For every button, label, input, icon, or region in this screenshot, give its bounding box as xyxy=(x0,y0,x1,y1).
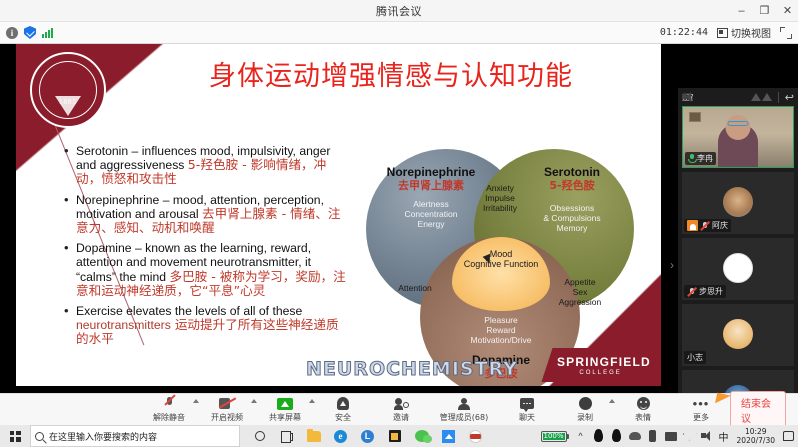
participant-name: 小志 xyxy=(687,352,703,363)
manage-members-label: 管理成员(68) xyxy=(440,412,488,423)
microsoft-store-button[interactable] xyxy=(381,425,408,447)
badge-line-2: COLLEGE xyxy=(579,370,621,376)
file-explorer-button[interactable] xyxy=(300,425,327,447)
signal-icon[interactable] xyxy=(42,27,53,38)
mic-off-icon xyxy=(687,287,697,297)
app-title: 腾讯会议 xyxy=(376,3,422,19)
mic-muted-icon xyxy=(164,396,175,411)
cnki-button[interactable] xyxy=(462,425,489,447)
restore-button[interactable]: ❐ xyxy=(758,5,771,18)
search-placeholder: 在这里输入你要搜索的内容 xyxy=(49,430,157,443)
app-root: 腾讯会议 – ❐ ✕ i 01:22:44 切换视图 xyxy=(0,0,798,447)
participant-name-bar: 小志 xyxy=(684,351,706,364)
battery-percent: 100% xyxy=(543,433,565,440)
volume-icon[interactable] xyxy=(701,430,713,442)
cloud-icon[interactable] xyxy=(629,430,641,442)
windows-logo-icon xyxy=(10,431,21,442)
bullet-text-en-highlight: neurotransmitters xyxy=(76,318,171,332)
switch-view-button[interactable]: 切换视图 xyxy=(717,25,771,40)
neurochemistry-watermark: NEUROCHEMISTRY xyxy=(306,358,518,380)
shield-icon[interactable] xyxy=(24,26,36,39)
person-glasses xyxy=(728,121,749,126)
top-toolbar-right: 01:22:44 切换视图 xyxy=(660,25,792,40)
participant-tiles: 李冉 阿庆 步思升 xyxy=(678,106,798,418)
top-toolbar-left: i xyxy=(6,26,53,39)
background-picture xyxy=(689,112,701,122)
venn-label-norepinephrine-title: Norepinephrine xyxy=(370,167,492,177)
windows-taskbar: 在这里输入你要搜索的内容 e L 100% ^ 中 xyxy=(0,425,798,447)
springfield-college-badge: SPRINGFIELD COLLEGE xyxy=(541,348,661,382)
back-arrow-icon[interactable]: ↩ xyxy=(785,91,794,104)
meeting-control-items: 解除静音 开启视频 共享屏幕 安全 邀请 xyxy=(0,396,730,423)
participant-tile-0[interactable]: 李冉 xyxy=(682,106,794,168)
invite-icon xyxy=(394,396,409,411)
venn-label-ne-da-overlap: Attention xyxy=(382,283,448,293)
more-label: 更多 xyxy=(693,412,709,423)
share-screen-icon xyxy=(277,396,293,411)
record-label: 录制 xyxy=(577,412,593,423)
more-icon: ••• xyxy=(693,396,710,411)
bullet-dot: • xyxy=(64,241,76,298)
members-icon xyxy=(458,396,470,411)
search-icon xyxy=(35,432,44,441)
bullet-text: Norepinephrine – mood, attention, percep… xyxy=(76,193,349,236)
share-screen-button[interactable]: 共享屏幕 xyxy=(256,396,314,423)
clock[interactable]: 10:29 2020/7/30 xyxy=(735,427,777,445)
info-icon[interactable]: i xyxy=(6,27,18,39)
meeting-stage: 1885 身体运动增强情感与认知功能 • Serotonin – influen… xyxy=(0,44,798,393)
qq-icon-2[interactable] xyxy=(611,430,623,442)
edge-button[interactable]: e xyxy=(327,425,354,447)
tencent-meeting-icon xyxy=(442,430,455,443)
invite-button[interactable]: 邀请 xyxy=(372,396,430,423)
invite-label: 邀请 xyxy=(393,412,409,423)
switch-view-label: 切换视图 xyxy=(731,25,771,40)
bullet-item-1: • Serotonin – influences mood, impulsivi… xyxy=(64,144,349,187)
mic-off-icon xyxy=(700,221,710,231)
end-meeting-button[interactable]: 结束会议 xyxy=(730,391,786,429)
minimize-button[interactable]: – xyxy=(735,5,748,18)
participant-name: 步思升 xyxy=(699,286,723,297)
start-video-label: 开启视频 xyxy=(211,412,243,423)
task-view-icon xyxy=(281,431,293,441)
springfield-seal-logo: 1885 xyxy=(30,52,106,128)
wechat-button[interactable] xyxy=(408,425,435,447)
usb-icon[interactable] xyxy=(647,430,659,442)
avatar xyxy=(723,319,753,349)
active-speaker-label: 正在讲话: 李冉; xyxy=(682,92,693,102)
edge-icon: e xyxy=(334,430,347,443)
shared-slide[interactable]: 1885 身体运动增强情感与认知功能 • Serotonin – influen… xyxy=(16,44,661,386)
window-title-bar: 腾讯会议 – ❐ ✕ xyxy=(0,0,798,22)
person-head xyxy=(726,115,751,140)
collapse-panel-chevron-icon[interactable]: › xyxy=(666,252,678,278)
window-controls: – ❐ ✕ xyxy=(735,0,794,22)
chat-icon xyxy=(520,396,534,411)
system-tray: 100% ^ 中 10:29 2020/7/30 xyxy=(541,427,798,445)
bullet-text: Serotonin – influences mood, impulsivity… xyxy=(76,144,349,187)
participant-tile-2[interactable]: 步思升 xyxy=(682,238,794,300)
record-button[interactable]: 录制 xyxy=(556,396,614,423)
venn-label-serotonin-title: Serotonin xyxy=(516,167,628,177)
venn-label-ne-se-overlap: Anxiety Impulse Irritability xyxy=(462,183,538,213)
bullet-item-3: • Dopamine – known as the learning, rewa… xyxy=(64,241,349,298)
fullscreen-icon[interactable] xyxy=(780,27,792,39)
meeting-timer: 01:22:44 xyxy=(660,27,708,38)
record-icon xyxy=(579,396,592,411)
bullet-text: Dopamine – known as the learning, reward… xyxy=(76,241,349,298)
bullet-text-en: Exercise elevates the levels of all of t… xyxy=(76,304,302,318)
unmute-label: 解除静音 xyxy=(153,412,185,423)
clock-date: 2020/7/30 xyxy=(737,436,775,445)
clock-time: 10:29 xyxy=(737,427,775,436)
start-button[interactable] xyxy=(0,425,30,447)
unmute-button[interactable]: 解除静音 xyxy=(140,396,198,423)
security-label: 安全 xyxy=(335,412,351,423)
participant-name-bar: 阿庆 xyxy=(684,219,731,232)
emoji-label: 表情 xyxy=(635,412,651,423)
close-button[interactable]: ✕ xyxy=(781,5,794,18)
camera-off-icon xyxy=(219,396,235,411)
bullet-dot: • xyxy=(64,304,76,347)
cortana-button[interactable] xyxy=(246,425,273,447)
emoji-icon xyxy=(637,396,650,411)
bullet-item-4: • Exercise elevates the levels of all of… xyxy=(64,304,349,347)
file-explorer-icon xyxy=(307,431,321,442)
badge-line-1: SPRINGFIELD xyxy=(557,355,651,369)
task-view-button[interactable] xyxy=(273,425,300,447)
cnki-icon xyxy=(469,430,482,443)
lsp-icon: L xyxy=(361,430,374,443)
meeting-top-toolbar: i 01:22:44 切换视图 xyxy=(0,22,798,44)
venn-label-se-da-overlap: Appetite Sex Aggression xyxy=(544,277,616,307)
avatar xyxy=(723,187,753,217)
bullet-dot: • xyxy=(64,193,76,236)
network-icon[interactable] xyxy=(665,430,677,442)
panel-header: 正在讲话: 李冉; ↩ xyxy=(678,88,798,106)
switch-view-icon xyxy=(717,28,728,38)
chat-button[interactable]: 聊天 xyxy=(498,396,556,423)
chat-label: 聊天 xyxy=(519,412,535,423)
battery-status[interactable]: 100% xyxy=(541,431,569,442)
avatar xyxy=(723,253,753,283)
bullet-dot: • xyxy=(64,144,76,187)
ime-indicator[interactable]: 中 xyxy=(719,429,729,444)
meeting-control-toolbar: 解除静音 开启视频 共享屏幕 安全 邀请 xyxy=(0,393,798,425)
bullet-item-2: • Norepinephrine – mood, attention, perc… xyxy=(64,193,349,236)
venn-label-dopamine-items: Pleasure Reward Motivation/Drive xyxy=(442,315,560,345)
security-icon xyxy=(337,396,349,411)
notification-icon[interactable] xyxy=(783,431,794,441)
lsp-button[interactable]: L xyxy=(354,425,381,447)
qq-icon[interactable] xyxy=(593,430,605,442)
panel-divider xyxy=(778,92,779,103)
participant-name-bar: 步思升 xyxy=(684,285,726,298)
participant-name-bar: 李冉 xyxy=(685,152,716,165)
participant-name: 李冉 xyxy=(697,153,713,164)
slide-title: 身体运动增强情感与认知功能 xyxy=(166,54,616,93)
participant-tile-1[interactable]: 阿庆 xyxy=(682,172,794,234)
mic-on-icon xyxy=(688,154,695,163)
participant-tile-3[interactable]: 小志 xyxy=(682,304,794,366)
participant-name: 阿庆 xyxy=(712,220,728,231)
slide-bullet-list: • Serotonin – influences mood, impulsivi… xyxy=(64,144,349,353)
search-input[interactable]: 在这里输入你要搜索的内容 xyxy=(30,425,240,447)
tray-expand-icon[interactable]: ^ xyxy=(575,430,587,442)
host-badge-icon xyxy=(687,220,698,231)
participant-panel: 正在讲话: 李冉; ↩ 李冉 xyxy=(678,88,798,437)
wifi-icon[interactable] xyxy=(683,430,695,442)
bullet-text: Exercise elevates the levels of all of t… xyxy=(76,304,349,347)
emoji-button[interactable]: 表情 xyxy=(614,396,672,423)
security-button[interactable]: 安全 xyxy=(314,396,372,423)
manage-members-button[interactable]: 管理成员(68) xyxy=(430,396,498,423)
start-video-button[interactable]: 开启视频 xyxy=(198,396,256,423)
share-screen-label: 共享屏幕 xyxy=(269,412,301,423)
store-icon xyxy=(389,430,401,442)
taskbar-apps: e L xyxy=(240,425,489,447)
tencent-meeting-logo-icon xyxy=(751,93,772,101)
cortana-icon xyxy=(255,431,265,441)
wechat-icon xyxy=(415,430,429,442)
tencent-meeting-button[interactable] xyxy=(435,425,462,447)
venn-label-center: Mood Cognitive Function xyxy=(448,249,554,269)
